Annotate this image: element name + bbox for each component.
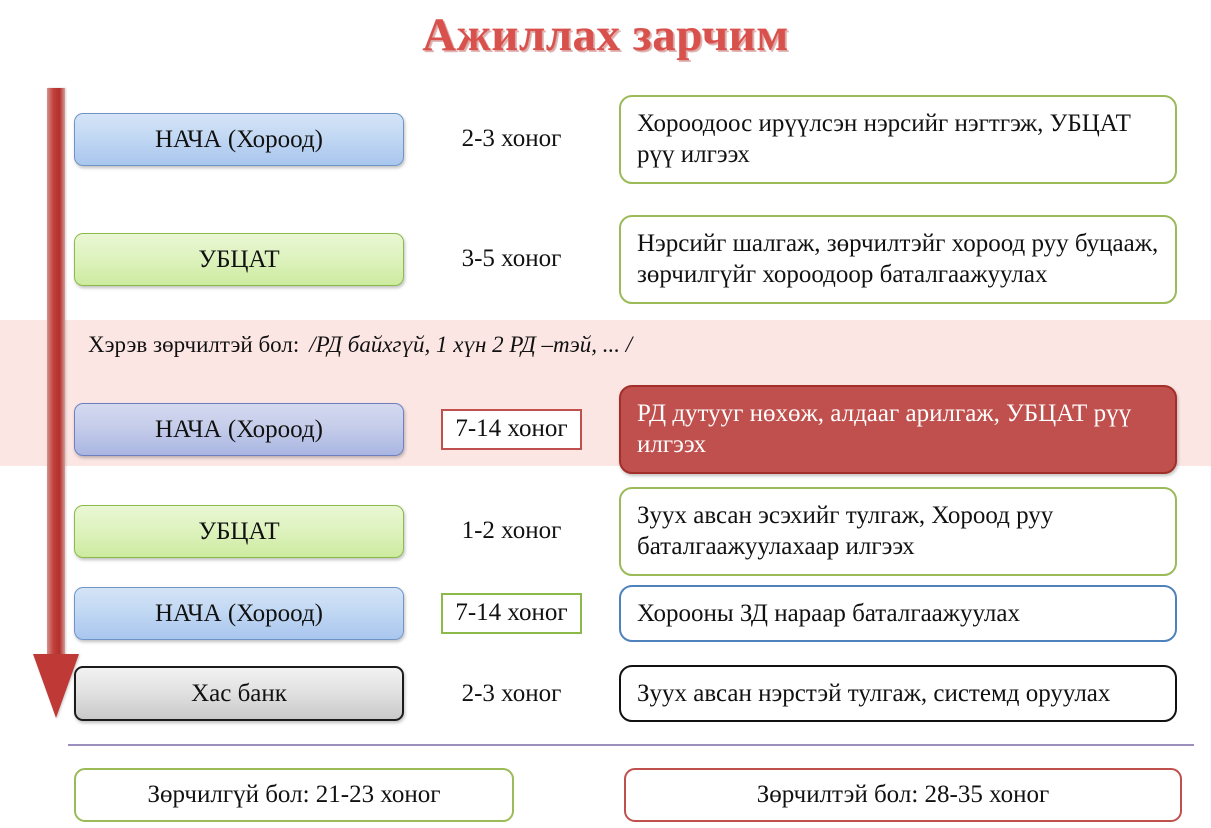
section-divider — [68, 744, 1194, 746]
duration-label: 7-14 хоног — [404, 409, 619, 450]
duration-label: 3-5 хоног — [404, 245, 619, 273]
duration-text: 2-3 хоног — [462, 125, 562, 152]
page-title: Ажиллах зарчим — [0, 8, 1211, 62]
summary-no-violation: Зөрчилгүй бол: 21-23 хоног — [74, 768, 514, 822]
process-row: УБЦАТ 1-2 хоног Зуух авсан эсэхийг тулга… — [0, 487, 1211, 576]
actor-box[interactable]: Хас банк — [74, 666, 404, 722]
duration-text: 1-2 хоног — [462, 517, 562, 544]
duration-text: 3-5 хоног — [462, 245, 562, 272]
process-row: НАЧА (Хороод) 7-14 хоног Хорооны ЗД нара… — [0, 585, 1211, 642]
actor-box[interactable]: НАЧА (Хороод) — [74, 587, 404, 641]
process-row: Хас банк 2-3 хоног Зуух авсан нэрстэй ту… — [0, 665, 1211, 722]
duration-label: 7-14 хоног — [404, 593, 619, 634]
description-box: Зуух авсан нэрстэй тулгаж, системд оруул… — [619, 665, 1177, 722]
actor-box[interactable]: УБЦАТ — [74, 505, 404, 559]
violation-condition-note: Хэрэв зөрчилтэй бол:/РД байхгүй, 1 хүн 2… — [88, 332, 632, 358]
description-box: РД дутууг нөхөж, алдааг арилгаж, УБЦАТ р… — [619, 385, 1177, 474]
duration-label: 2-3 хоног — [404, 680, 619, 708]
duration-label: 1-2 хоног — [404, 517, 619, 545]
duration-text: 7-14 хоног — [441, 593, 581, 634]
process-row: НАЧА (Хороод) 7-14 хоног РД дутууг нөхөж… — [0, 385, 1211, 474]
actor-box[interactable]: УБЦАТ — [74, 233, 404, 287]
actor-box[interactable]: НАЧА (Хороод) — [74, 113, 404, 167]
description-box: Хороодоос ирүүлсэн нэрсийг нэгтгэж, УБЦА… — [619, 95, 1177, 184]
description-box: Хорооны ЗД нараар баталгаажуулах — [619, 585, 1177, 642]
duration-text: 2-3 хоног — [462, 680, 562, 707]
description-box: Зуух авсан эсэхийг тулгаж, Хороод руу ба… — [619, 487, 1177, 576]
duration-label: 2-3 хоног — [404, 125, 619, 153]
summary-with-violation: Зөрчилтэй бол: 28-35 хоног — [624, 768, 1182, 822]
violation-condition-label: Хэрэв зөрчилтэй бол: — [88, 332, 299, 357]
violation-condition-detail: /РД байхгүй, 1 хүн 2 РД –тэй, ... / — [309, 332, 632, 357]
process-row: УБЦАТ 3-5 хоног Нэрсийг шалгаж, зөрчилтэ… — [0, 215, 1211, 304]
duration-text: 7-14 хоног — [441, 409, 581, 450]
description-box: Нэрсийг шалгаж, зөрчилтэйг хороод руу бу… — [619, 215, 1177, 304]
actor-box[interactable]: НАЧА (Хороод) — [74, 403, 404, 457]
process-row: НАЧА (Хороод) 2-3 хоног Хороодоос ирүүлс… — [0, 95, 1211, 184]
